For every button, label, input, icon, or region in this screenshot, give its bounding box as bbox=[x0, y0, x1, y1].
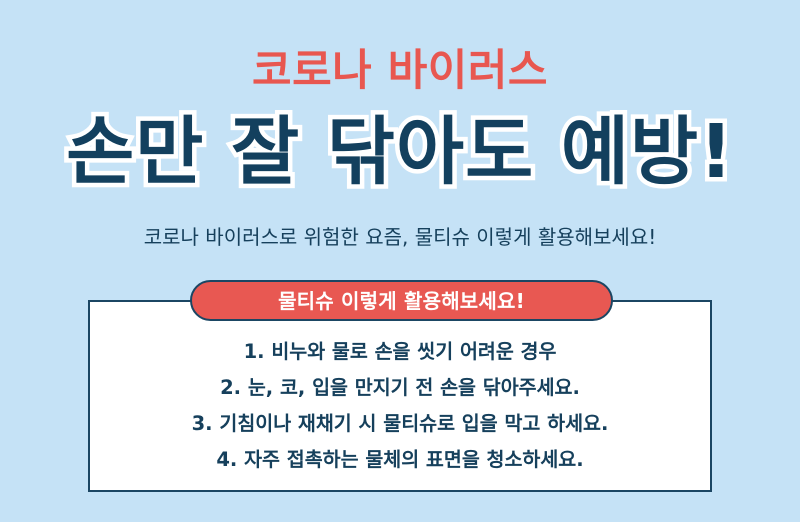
list-item: 2. 눈, 코, 입을 만지기 전 손을 닦아주세요. bbox=[88, 370, 712, 406]
poster-canvas: 코로나 바이러스 손만 잘 닦아도 예방! 코로나 바이러스로 위험한 요즘, … bbox=[0, 0, 800, 522]
headline-container: 손만 잘 닦아도 예방! bbox=[0, 104, 800, 200]
section-badge-label: 물티슈 이렇게 활용해보세요! bbox=[278, 291, 525, 311]
eyebrow-title: 코로나 바이러스 bbox=[0, 44, 800, 98]
page-title: 손만 잘 닦아도 예방! bbox=[66, 104, 734, 200]
section-badge: 물티슈 이렇게 활용해보세요! bbox=[190, 280, 613, 321]
tips-list: 1. 비누와 물로 손을 씻기 어려운 경우 2. 눈, 코, 입을 만지기 전… bbox=[88, 334, 712, 478]
subtitle: 코로나 바이러스로 위험한 요즘, 물티슈 이렇게 활용해보세요! bbox=[0, 222, 800, 252]
list-item: 4. 자주 접촉하는 물체의 표면을 청소하세요. bbox=[88, 442, 712, 478]
list-item: 1. 비누와 물로 손을 씻기 어려운 경우 bbox=[88, 334, 712, 370]
list-item: 3. 기침이나 재채기 시 물티슈로 입을 막고 하세요. bbox=[88, 406, 712, 442]
